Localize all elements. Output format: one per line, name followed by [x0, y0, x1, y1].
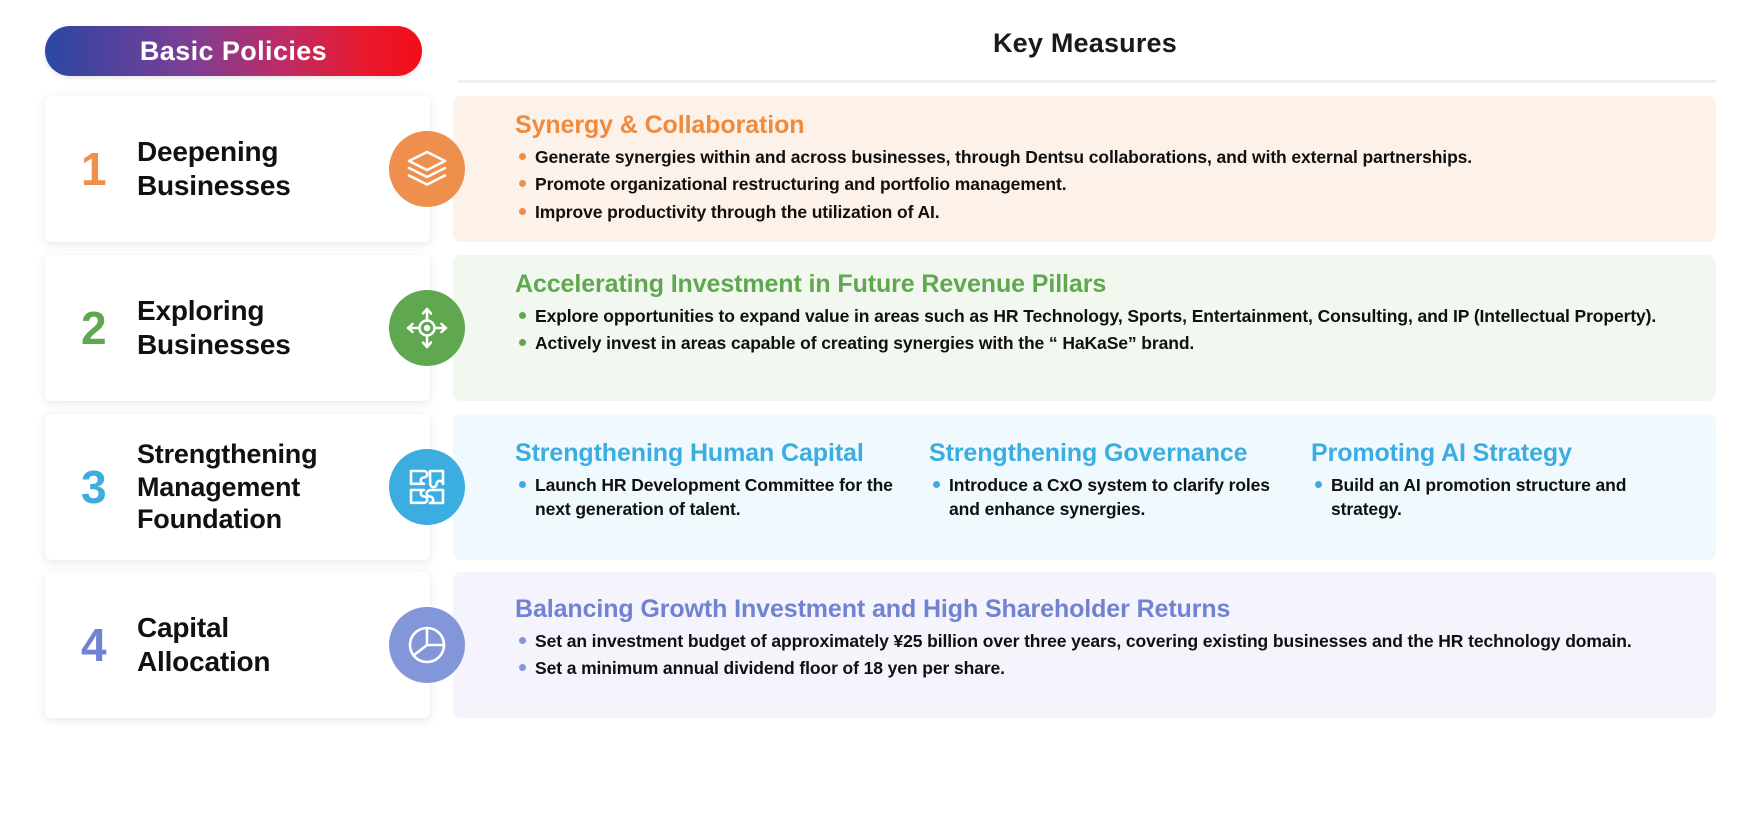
- measures-heading-3-3: Promoting AI Strategy: [1311, 438, 1694, 469]
- measures-heading-4-1: Balancing Growth Investment and High Sha…: [515, 594, 1694, 625]
- measures-group-3-3: Promoting AI Strategy Build an AI promot…: [1311, 438, 1694, 525]
- list-item: Improve productivity through the utiliza…: [515, 200, 1694, 224]
- measures-bullets-3-2: Introduce a CxO system to clarify roles …: [929, 473, 1289, 521]
- measures-panel-4: Balancing Growth Investment and High Sha…: [453, 572, 1716, 718]
- list-item: Generate synergies within and across bus…: [515, 145, 1694, 169]
- policy-number-1: 1: [81, 146, 129, 192]
- measures-bullets-4-1: Set an investment budget of approximatel…: [515, 629, 1694, 680]
- puzzle-piece-icon: [389, 449, 465, 525]
- measures-panel-1: Synergy & Collaboration Generate synergi…: [453, 96, 1716, 242]
- list-item: Promote organizational restructuring and…: [515, 172, 1694, 196]
- measures-bullets-2-1: Explore opportunities to expand value in…: [515, 304, 1694, 355]
- policy-row-2: 2 Exploring Businesses: [0, 255, 1760, 401]
- policy-card-4[interactable]: 4 Capital Allocation: [45, 572, 430, 718]
- policy-title-3-line3: Foundation: [137, 503, 317, 536]
- policy-card-2[interactable]: 2 Exploring Businesses: [45, 255, 430, 401]
- policy-number-4: 4: [81, 622, 129, 668]
- policy-title-2: Exploring Businesses: [137, 294, 291, 362]
- measures-group-1-1: Synergy & Collaboration Generate synergi…: [515, 110, 1694, 224]
- list-item: Actively invest in areas capable of crea…: [515, 331, 1694, 355]
- policy-title-2-line2: Businesses: [137, 328, 291, 362]
- basic-policies-pill: Basic Policies: [45, 26, 422, 76]
- measures-heading-3-2: Strengthening Governance: [929, 438, 1289, 469]
- measures-columns-3: Strengthening Human Capital Launch HR De…: [515, 438, 1694, 525]
- measures-group-4-1: Balancing Growth Investment and High Sha…: [515, 594, 1694, 681]
- policy-title-3-line1: Strengthening: [137, 438, 317, 471]
- policy-number-2: 2: [81, 305, 129, 351]
- header: Basic Policies Key Measures: [0, 0, 1760, 88]
- pie-chart-icon: [389, 607, 465, 683]
- list-item: Explore opportunities to expand value in…: [515, 304, 1694, 328]
- basic-policies-label: Basic Policies: [140, 36, 327, 67]
- policy-row-4: 4 Capital Allocation Balancing Growth In…: [0, 572, 1760, 718]
- measures-group-3-1: Strengthening Human Capital Launch HR De…: [515, 438, 907, 525]
- policy-title-3-line2: Management: [137, 471, 317, 504]
- policy-card-3[interactable]: 3 Strengthening Management Foundation: [45, 414, 430, 560]
- strategy-overview-slide: Basic Policies Key Measures 1 Deepening …: [0, 0, 1760, 825]
- list-item: Set an investment budget of approximatel…: [515, 629, 1694, 653]
- policy-row-3: 3 Strengthening Management Foundation St…: [0, 414, 1760, 560]
- measures-group-3-2: Strengthening Governance Introduce a CxO…: [929, 438, 1289, 525]
- measures-heading-3-1: Strengthening Human Capital: [515, 438, 907, 469]
- key-measures-heading: Key Measures: [455, 28, 1715, 59]
- measures-bullets-3-1: Launch HR Development Committee for the …: [515, 473, 907, 521]
- policy-row-1: 1 Deepening Businesses Synergy & Collabo…: [0, 96, 1760, 242]
- list-item: Set a minimum annual dividend floor of 1…: [515, 656, 1694, 680]
- measures-bullets-1-1: Generate synergies within and across bus…: [515, 145, 1694, 223]
- measures-bullets-3-3: Build an AI promotion structure and stra…: [1311, 473, 1694, 521]
- list-item: Build an AI promotion structure and stra…: [1311, 473, 1694, 521]
- policy-title-2-line1: Exploring: [137, 294, 291, 328]
- policy-title-1-line1: Deepening: [137, 135, 291, 169]
- measures-heading-1-1: Synergy & Collaboration: [515, 110, 1694, 141]
- policy-title-4-line1: Capital: [137, 611, 270, 645]
- layers-icon: [389, 131, 465, 207]
- policy-card-1[interactable]: 1 Deepening Businesses: [45, 96, 430, 242]
- list-item: Introduce a CxO system to clarify roles …: [929, 473, 1289, 521]
- measures-group-2-1: Accelerating Investment in Future Revenu…: [515, 269, 1694, 356]
- policy-title-4: Capital Allocation: [137, 611, 270, 679]
- policy-title-1-line2: Businesses: [137, 169, 291, 203]
- header-divider: [458, 80, 1716, 83]
- list-item: Launch HR Development Committee for the …: [515, 473, 907, 521]
- policy-number-3: 3: [81, 464, 129, 510]
- policy-title-4-line2: Allocation: [137, 645, 270, 679]
- policy-title-1: Deepening Businesses: [137, 135, 291, 203]
- measures-heading-2-1: Accelerating Investment in Future Revenu…: [515, 269, 1694, 300]
- policy-title-3: Strengthening Management Foundation: [137, 438, 317, 537]
- measures-panel-2: Accelerating Investment in Future Revenu…: [453, 255, 1716, 401]
- measures-panel-3: Strengthening Human Capital Launch HR De…: [453, 414, 1716, 560]
- target-expand-icon: [389, 290, 465, 366]
